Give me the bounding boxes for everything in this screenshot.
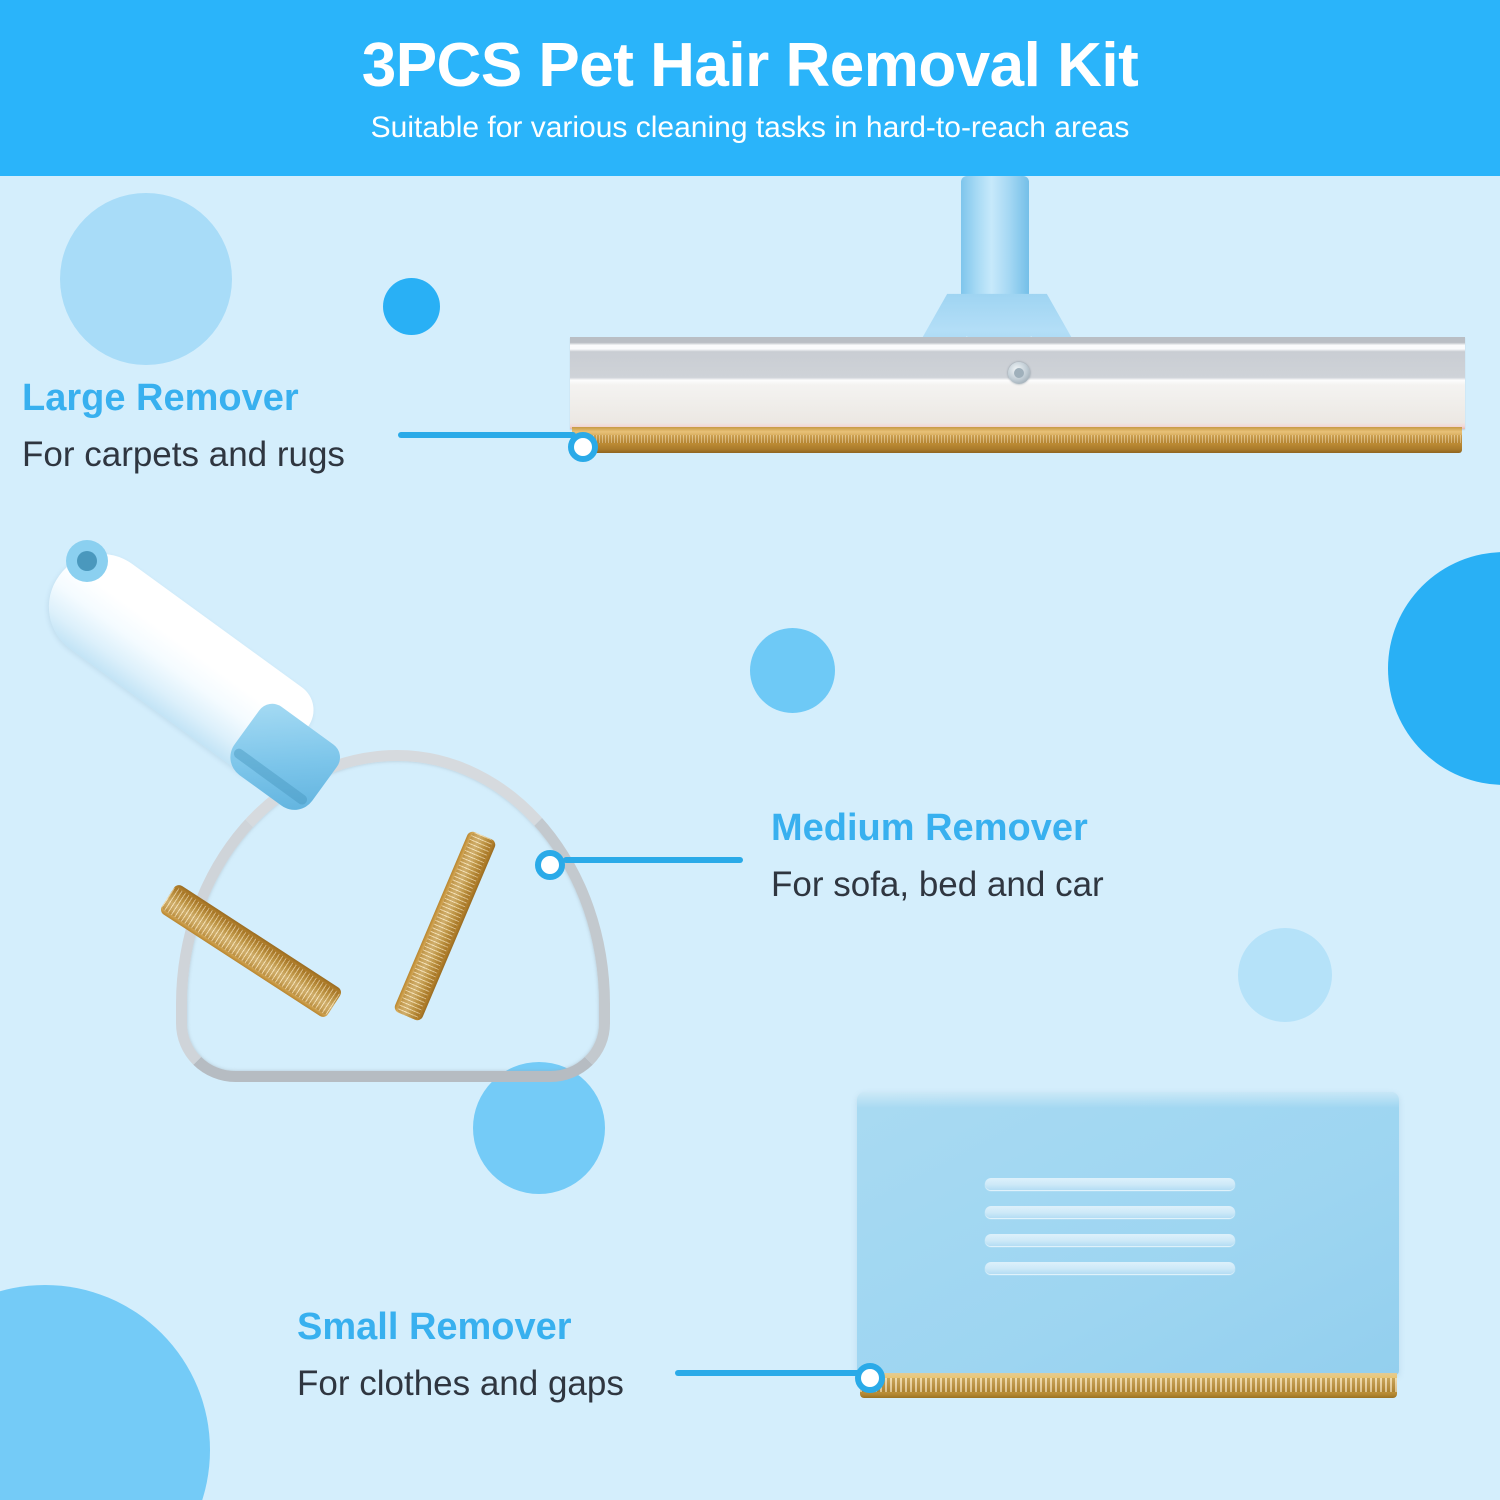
connector-line-small — [675, 1370, 875, 1376]
callout-large-title: Large Remover — [22, 378, 345, 420]
callout-small-description: For clothes and gaps — [297, 1365, 624, 1404]
circle-mid-center-icon — [750, 628, 835, 713]
grip-ridge — [985, 1262, 1235, 1274]
medium-remover-hang-hole-icon — [66, 540, 108, 582]
squeegee-rivet-icon — [1008, 362, 1030, 384]
connector-dot-large — [568, 432, 598, 462]
grip-ridge — [985, 1178, 1235, 1190]
page-title: 3PCS Pet Hair Removal Kit — [362, 33, 1139, 98]
callout-large-remover: Large Remover For carpets and rugs — [22, 378, 345, 474]
grip-ridge — [985, 1234, 1235, 1246]
connector-line-medium — [563, 857, 743, 863]
callout-large-description: For carpets and rugs — [22, 436, 345, 475]
small-remover-gold-blade — [860, 1373, 1397, 1398]
callout-medium-description: For sofa, bed and car — [771, 866, 1104, 905]
circle-right-large-icon — [1388, 552, 1500, 785]
callout-small-title: Small Remover — [297, 1307, 624, 1349]
page-subtitle: Suitable for various cleaning tasks in h… — [371, 113, 1130, 143]
small-remover-grip-ridges — [985, 1178, 1235, 1274]
medium-remover-arc — [176, 750, 610, 1082]
circle-bottom-left-icon — [0, 1285, 210, 1500]
connector-line-large — [398, 432, 576, 438]
circle-top-mid-icon — [383, 278, 440, 335]
callout-medium-remover: Medium Remover For sofa, bed and car — [771, 808, 1104, 904]
grip-ridge — [985, 1206, 1235, 1218]
circle-top-left-icon — [60, 193, 232, 365]
infographic-canvas: 3PCS Pet Hair Removal Kit Suitable for v… — [0, 0, 1500, 1500]
connector-dot-small — [855, 1363, 885, 1393]
connector-dot-medium — [535, 850, 565, 880]
callout-small-remover: Small Remover For clothes and gaps — [297, 1307, 624, 1403]
header-banner: 3PCS Pet Hair Removal Kit Suitable for v… — [0, 0, 1500, 176]
callout-medium-title: Medium Remover — [771, 808, 1104, 850]
circle-right-small-icon — [1238, 928, 1332, 1022]
squeegee-pole — [961, 176, 1029, 306]
squeegee-gold-blade — [572, 427, 1462, 453]
